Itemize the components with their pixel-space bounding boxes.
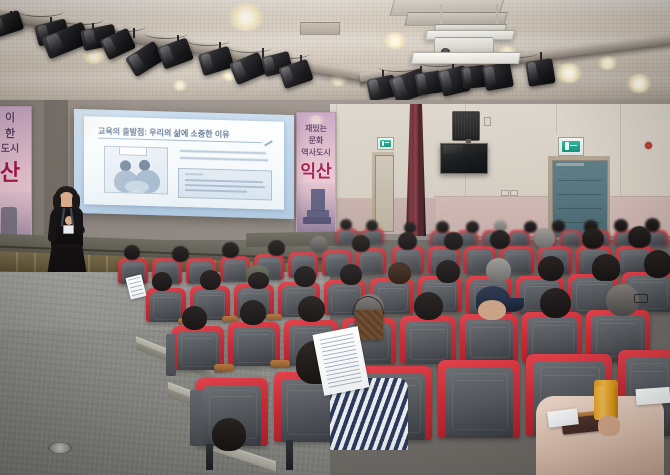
wall-tv-monitor xyxy=(440,143,488,174)
door-closer-bar xyxy=(556,163,584,166)
attendee-head xyxy=(478,300,506,320)
attendee-head xyxy=(340,264,362,285)
attendee-head xyxy=(644,250,670,278)
fire-alarm-icon xyxy=(645,142,652,149)
running-person-exit-icon xyxy=(380,140,391,148)
attendee-thermos xyxy=(594,386,618,420)
seat-side-panel xyxy=(166,334,176,376)
attendee-head xyxy=(592,254,620,281)
attendee-head xyxy=(294,266,316,287)
seat-armrest xyxy=(270,360,290,367)
presentation-slide: 교육의 출발점: 우리의 삶에 소중한 이유 xyxy=(84,116,284,210)
slide-body-line xyxy=(180,150,266,154)
attendee-head xyxy=(222,242,239,258)
auditorium-photo: 이 한 도시 산 재밌는 문화 역사도시 익산 교육의 출발점: 우리의 삶에 … xyxy=(0,0,670,475)
wall-speaker xyxy=(452,111,480,141)
attendee-head xyxy=(200,270,221,290)
attendee-head xyxy=(486,258,511,282)
eyeglasses-icon xyxy=(634,294,648,303)
exit-sign xyxy=(558,137,584,156)
banner-left-city: 산 xyxy=(0,161,31,184)
ceiling-downlight xyxy=(173,80,187,91)
ceiling-downlight xyxy=(228,3,264,31)
attendee-head xyxy=(366,220,378,231)
attendee-head xyxy=(388,262,411,284)
attendee-head xyxy=(340,219,352,230)
attendee-head xyxy=(268,240,285,256)
pencil-icon xyxy=(264,140,273,146)
attendee-head xyxy=(466,221,479,233)
attendee-head xyxy=(182,306,207,330)
banner-left-line1: 이 xyxy=(0,113,31,125)
banner-right: 재밌는 문화 역사도시 익산 xyxy=(296,112,336,234)
ceiling xyxy=(0,0,670,108)
attendee-head xyxy=(582,228,604,249)
attendee-head xyxy=(352,235,370,252)
attendee-head xyxy=(212,418,246,451)
attendee-head xyxy=(444,232,463,250)
banner-right-line2: 문화 xyxy=(297,137,335,145)
ceiling-duct-panel xyxy=(300,22,340,35)
ceiling-downlight xyxy=(384,32,406,49)
seat-armrest xyxy=(266,314,282,320)
attendee-head xyxy=(436,260,460,283)
attendee-head xyxy=(152,272,172,291)
attendee-head xyxy=(552,220,565,232)
stage-spotlight xyxy=(525,58,556,87)
attendee-head xyxy=(614,219,628,232)
attendee-head xyxy=(248,272,269,289)
slide-body-line xyxy=(180,157,268,161)
projection-screen: 교육의 출발점: 우리의 삶에 소중한 이유 xyxy=(74,109,294,219)
wall-outlet-plate xyxy=(510,190,518,196)
screen-surface: 교육의 출발점: 우리의 삶에 소중한 이유 xyxy=(74,109,294,219)
attendee-head xyxy=(298,296,325,322)
banner-right-line3: 역사도시 xyxy=(297,149,335,157)
slide-note-box xyxy=(178,168,272,201)
banner-left: 이 한 도시 산 xyxy=(0,106,32,254)
slide-illustration xyxy=(104,146,168,195)
exit-sign-secondary xyxy=(377,137,394,150)
banner-left-line2: 한 xyxy=(0,129,31,141)
attendee-head xyxy=(538,256,564,281)
slide-title: 교육의 출발점: 우리의 삶에 소중한 이유 xyxy=(98,126,262,144)
illustration-tab xyxy=(119,146,147,156)
attendee-head xyxy=(436,221,449,233)
seat-side-panel xyxy=(190,390,203,446)
attendee-head xyxy=(172,246,189,262)
projector-base-plate xyxy=(411,52,521,64)
stage-spotlight xyxy=(482,62,514,91)
exit-door-secondary[interactable] xyxy=(375,155,394,232)
ceiling-downlight xyxy=(556,63,582,83)
banner-left-line3: 도시 xyxy=(0,145,31,156)
presenter-name-badge xyxy=(63,225,74,234)
attendee-head xyxy=(124,245,140,260)
attendee-head xyxy=(310,236,328,253)
ceiling-downlight xyxy=(627,74,651,93)
attendee-head xyxy=(628,226,651,248)
running-person-exit-icon xyxy=(562,141,580,153)
attendee-head xyxy=(398,232,417,250)
banner-right-city: 익산 xyxy=(297,163,335,181)
wall-switch-plate xyxy=(484,117,491,126)
attendee-head xyxy=(540,288,571,318)
attendee-head xyxy=(240,300,266,325)
attendee-head xyxy=(490,230,510,249)
attendee-head xyxy=(534,228,555,248)
floor-power-outlet xyxy=(48,442,72,454)
attendee-handout-paper xyxy=(635,387,670,405)
attendee-hand xyxy=(598,416,620,436)
attendee-head xyxy=(414,292,443,320)
wall-outlet-plate xyxy=(501,190,509,196)
banner-right-line1: 재밌는 xyxy=(297,125,335,133)
seat-armrest xyxy=(214,364,234,371)
